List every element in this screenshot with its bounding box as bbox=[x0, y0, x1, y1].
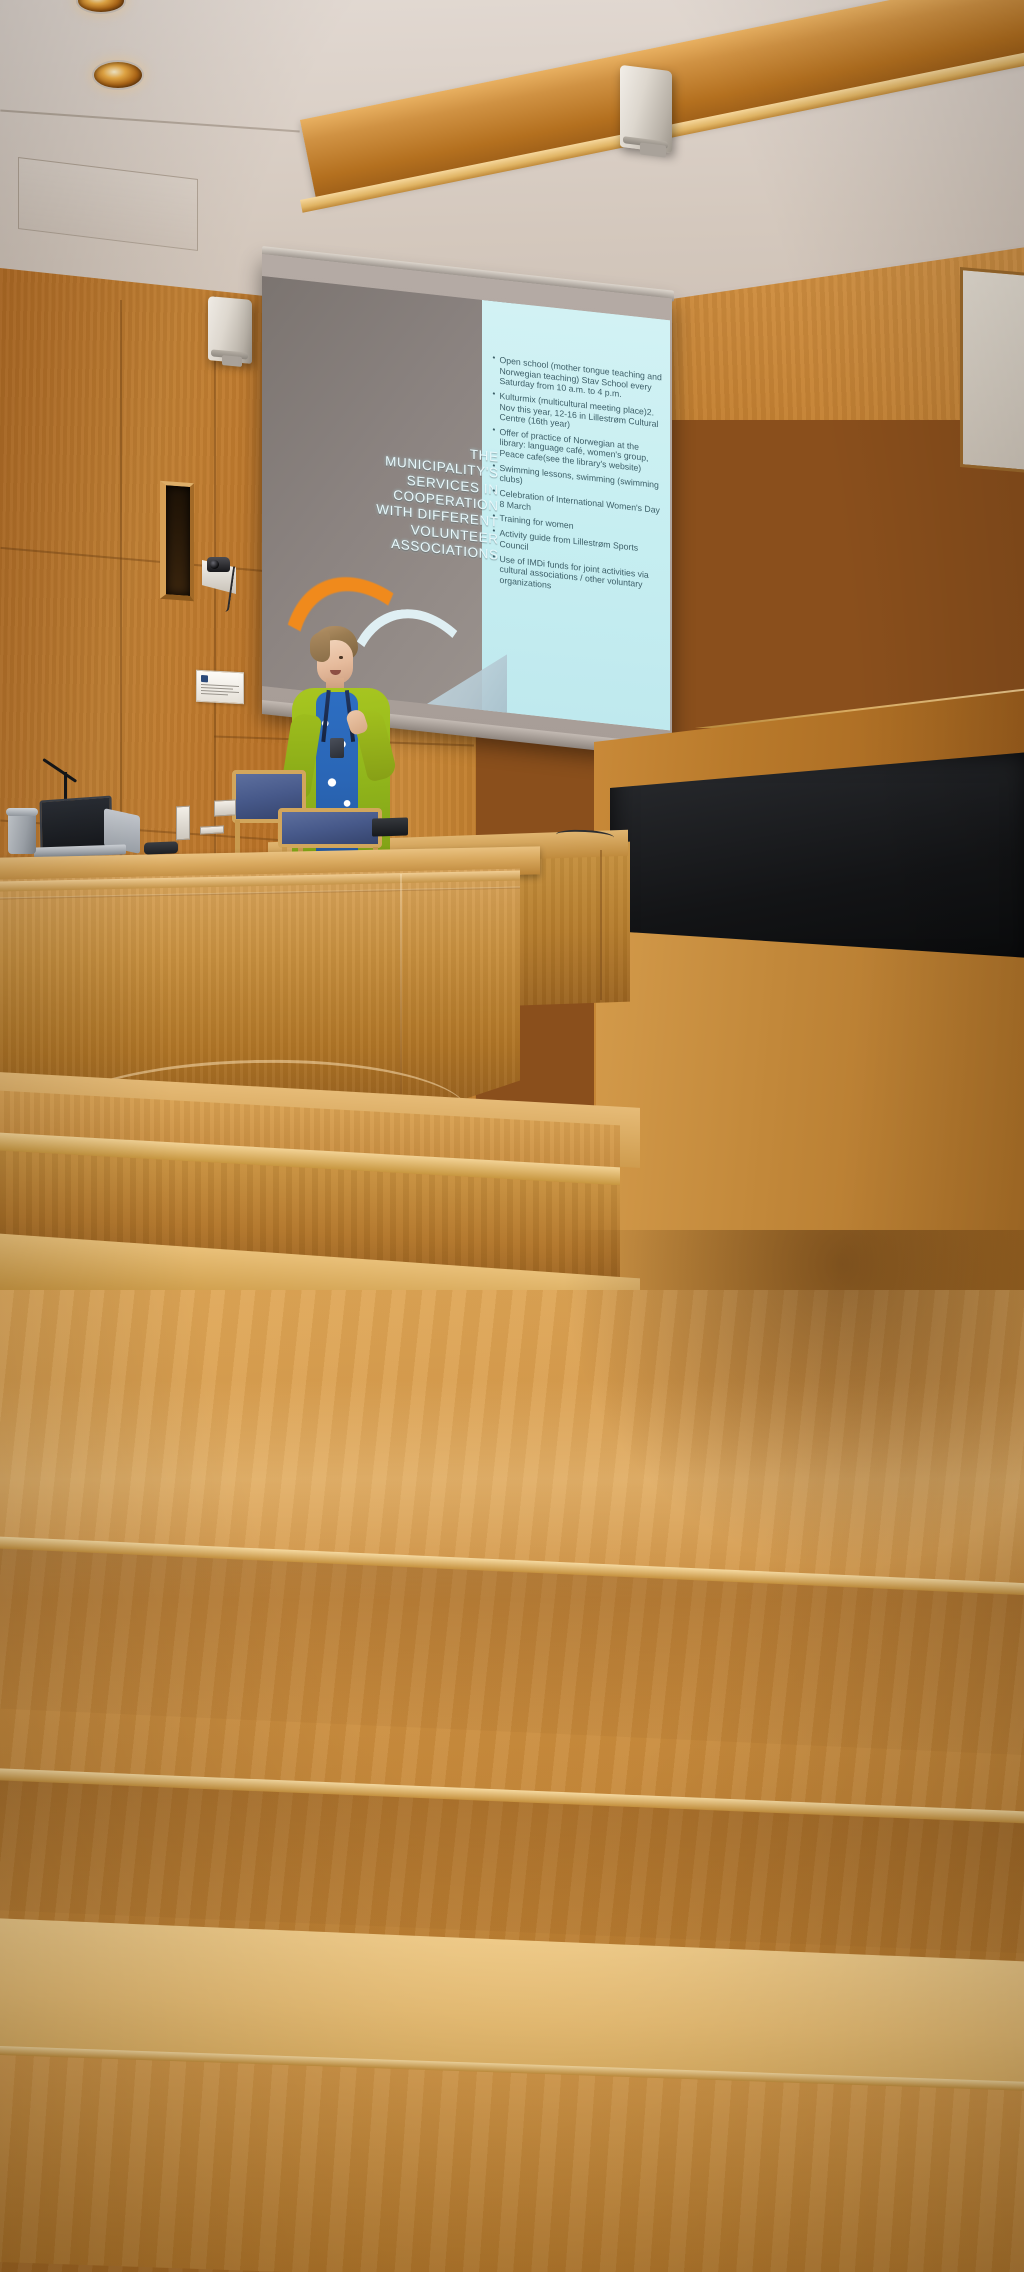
chair-backrest bbox=[278, 808, 382, 848]
laptop-display bbox=[40, 796, 113, 853]
travel-mug-lid bbox=[6, 808, 38, 816]
slide-title: THE MUNICIPALITY'S SERVICES IN COOPERATI… bbox=[335, 432, 498, 565]
ceiling-speaker-right bbox=[620, 65, 672, 153]
wall-light-niche bbox=[160, 481, 194, 601]
lecture-hall-photo: THE MUNICIPALITY'S SERVICES IN COOPERATI… bbox=[0, 0, 1024, 2272]
cable-port bbox=[200, 825, 224, 834]
cabinet-seam bbox=[600, 850, 602, 1000]
recessed-downlight-2 bbox=[92, 60, 144, 90]
presenter-eye bbox=[339, 656, 343, 659]
wall-art-frame-right bbox=[960, 267, 1024, 473]
power-outlet-panel bbox=[176, 806, 190, 841]
travel-mug bbox=[8, 812, 36, 854]
desk-panel-seam bbox=[400, 874, 402, 1094]
mouse-pad bbox=[144, 841, 178, 854]
wall-speaker-left bbox=[208, 296, 252, 364]
wall-info-sign bbox=[196, 670, 244, 705]
sign-logo-icon bbox=[201, 675, 208, 682]
speaker-bracket-left bbox=[222, 355, 242, 367]
presenter-badge bbox=[330, 738, 344, 758]
podium-cast-shadow bbox=[560, 1230, 1024, 1570]
power-outlet-panel bbox=[214, 799, 236, 816]
camera-lens-icon bbox=[210, 560, 219, 569]
wall-panel-seam bbox=[120, 300, 122, 880]
presenter-hair-side bbox=[310, 632, 330, 662]
av-control-box bbox=[372, 817, 408, 836]
slide-bullet-list: Open school (mother tongue teaching and … bbox=[493, 354, 666, 607]
